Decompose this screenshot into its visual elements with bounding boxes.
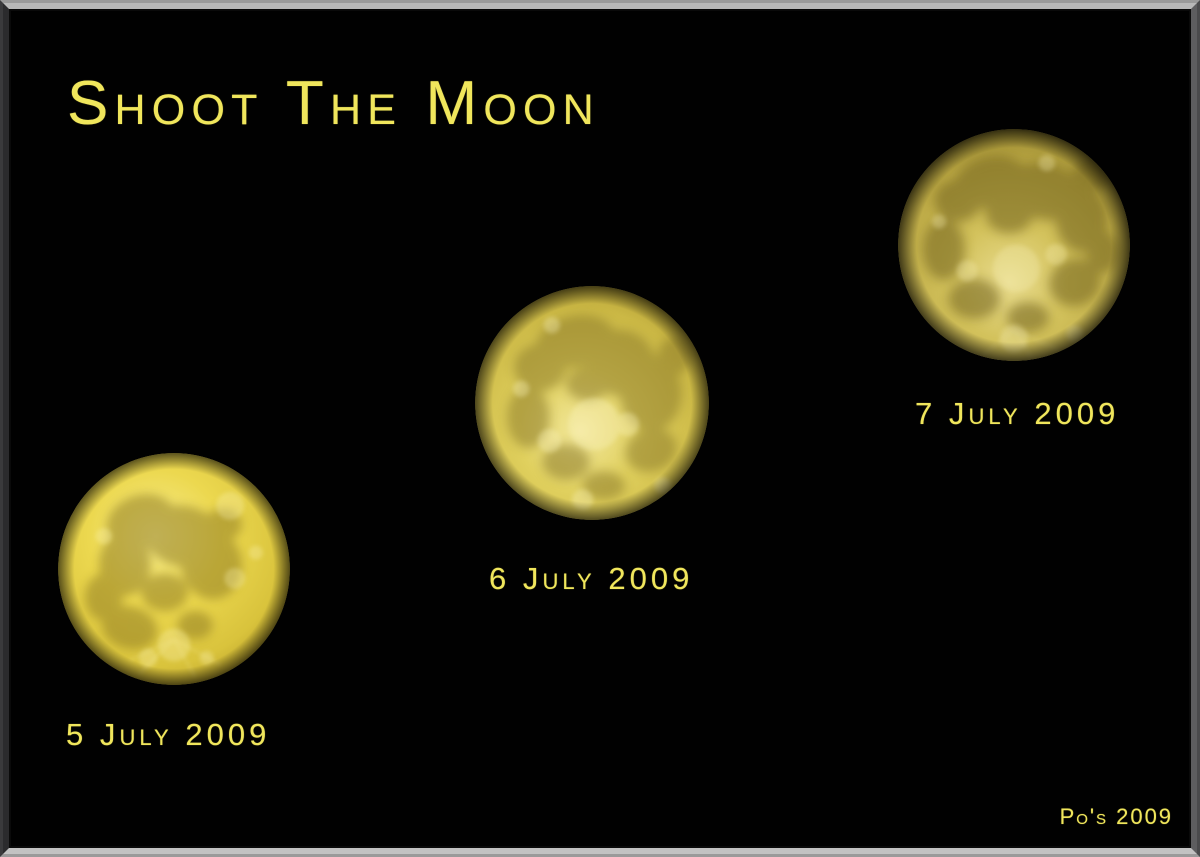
moon-photo-artwork: Shoot The Moon 5 July 2009 6 July 2009 7… [0, 0, 1200, 857]
moon-label-5-july: 5 July 2009 [66, 717, 270, 753]
moon-image-7-july [897, 128, 1131, 362]
artist-signature: Po's 2009 [1060, 804, 1173, 830]
photo-area: Shoot The Moon 5 July 2009 6 July 2009 7… [11, 11, 1189, 846]
moon-label-6-july: 6 July 2009 [489, 561, 693, 597]
page-title: Shoot The Moon [67, 73, 600, 135]
moon-image-6-july [474, 285, 710, 521]
moon-label-7-july: 7 July 2009 [915, 396, 1119, 432]
moon-image-5-july [57, 452, 291, 686]
